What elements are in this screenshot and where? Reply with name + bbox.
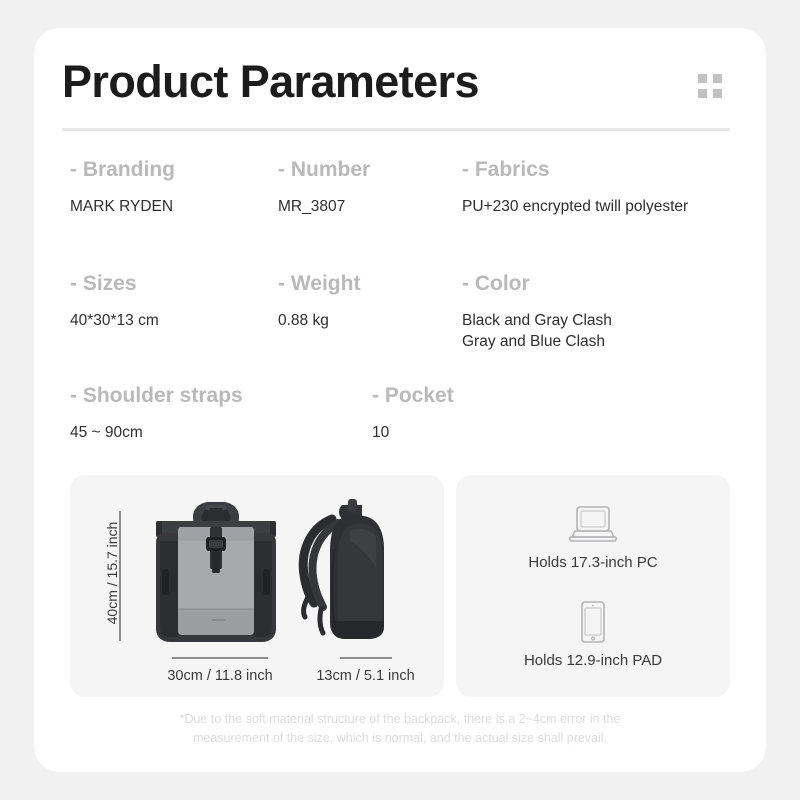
- spec-value: 40*30*13 cm: [70, 310, 159, 331]
- spec-label: - Branding: [70, 156, 175, 184]
- height-measurement-line: [119, 511, 121, 641]
- depth-measurement-line: [340, 657, 392, 659]
- spec-cell-pocket: - Pocket 10: [372, 382, 454, 443]
- grid-icon-square: [698, 74, 707, 83]
- spec-value: 45 ~ 90cm: [70, 422, 243, 443]
- footnote: *Due to the soft material structure of t…: [74, 710, 726, 748]
- spec-cell-shoulder-straps: - Shoulder straps 45 ~ 90cm: [70, 382, 243, 443]
- spec-row: - Sizes 40*30*13 cm - Weight 0.88 kg - C…: [62, 270, 746, 356]
- product-parameters-card: Product Parameters - Branding MARK RYDEN…: [34, 28, 766, 772]
- card-header: Product Parameters: [62, 54, 738, 130]
- width-measurement-label: 30cm / 11.8 inch: [140, 667, 300, 685]
- spec-label: - Pocket: [372, 382, 454, 410]
- page-title: Product Parameters: [62, 54, 479, 110]
- spec-label: - Shoulder straps: [70, 382, 243, 410]
- depth-measurement-label: 13cm / 5.1 inch: [298, 667, 433, 685]
- laptop-icon: [456, 501, 730, 547]
- tablet-icon: [456, 599, 730, 645]
- header-divider: [62, 128, 730, 131]
- grid-icon[interactable]: [698, 74, 724, 100]
- spec-value: 0.88 kg: [278, 310, 360, 331]
- spec-cell-branding: - Branding MARK RYDEN: [70, 156, 175, 217]
- backpack-side-view: [288, 497, 400, 649]
- spec-cell-fabrics: - Fabrics PU+230 encrypted twill polyest…: [462, 156, 688, 217]
- spec-value: MR_3807: [278, 196, 370, 217]
- spec-row: - Branding MARK RYDEN - Number MR_3807 -…: [62, 156, 746, 242]
- spec-value: PU+230 encrypted twill polyester: [462, 196, 688, 217]
- spec-cell-weight: - Weight 0.88 kg: [278, 270, 360, 331]
- spec-cell-number: - Number MR_3807: [278, 156, 370, 217]
- spec-value: Black and Gray Clash Gray and Blue Clash: [462, 310, 612, 352]
- spec-label: - Sizes: [70, 270, 159, 298]
- spec-row: - Shoulder straps 45 ~ 90cm - Pocket 10: [62, 382, 746, 468]
- spec-value: 10: [372, 422, 454, 443]
- dimensions-panel: 40cm / 15.7 inch: [70, 475, 444, 697]
- spec-label: - Weight: [278, 270, 360, 298]
- capacity-item-pad: Holds 12.9-inch PAD: [456, 599, 730, 671]
- spec-cell-sizes: - Sizes 40*30*13 cm: [70, 270, 159, 331]
- grid-icon-square: [713, 89, 722, 98]
- capacity-item-pc: Holds 17.3-inch PC: [456, 501, 730, 573]
- spec-value: MARK RYDEN: [70, 196, 175, 217]
- grid-icon-square: [698, 89, 707, 98]
- capacity-panel: Holds 17.3-inch PC Holds 12.9-inch PAD: [456, 475, 730, 697]
- width-measurement: 30cm / 11.8 inch: [140, 657, 300, 685]
- width-measurement-line: [172, 657, 268, 659]
- capacity-label: Holds 12.9-inch PAD: [456, 651, 730, 671]
- spec-label: - Fabrics: [462, 156, 688, 184]
- spec-label: - Color: [462, 270, 612, 298]
- height-measurement-label: 40cm / 15.7 inch: [104, 498, 120, 648]
- backpack-front-view: [150, 497, 282, 649]
- depth-measurement: 13cm / 5.1 inch: [298, 657, 433, 685]
- grid-icon-square: [713, 74, 722, 83]
- capacity-label: Holds 17.3-inch PC: [456, 553, 730, 573]
- spec-cell-color: - Color Black and Gray Clash Gray and Bl…: [462, 270, 612, 352]
- spec-label: - Number: [278, 156, 370, 184]
